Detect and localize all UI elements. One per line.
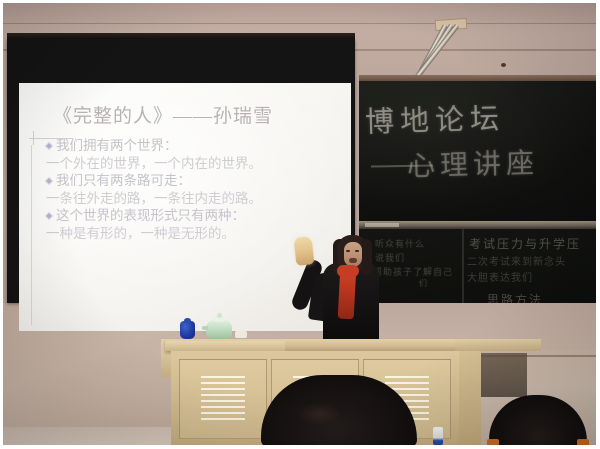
presenter-mouth [349, 258, 357, 263]
blackboard-right-note: 二次考试来到新念头 [467, 253, 566, 268]
ceiling-fixture-dot [501, 63, 506, 67]
blackboard-right-note: 考试压力与升学压 [469, 235, 581, 252]
slide-decor-guide [31, 145, 32, 325]
podium-recess [473, 353, 527, 397]
podium-panel [179, 359, 267, 439]
presenter-face [344, 242, 362, 267]
ceiling-band [3, 3, 596, 25]
photo-frame: 博地论坛 心理讲座 听众有什么 说我们 帮助孩子了解自己 们 考试压力与升学压 … [0, 0, 600, 449]
white-desk-item [235, 331, 247, 338]
presenter-hair [361, 239, 372, 275]
teapot-knob [217, 313, 222, 318]
classroom-photo: 博地论坛 心理讲座 听众有什么 说我们 帮助孩子了解自己 们 考试压力与升学压 … [3, 3, 596, 445]
diamond-bullet-icon [45, 212, 54, 221]
blackboard-headline: 博地论坛 [364, 95, 505, 141]
diamond-bullet-icon [45, 142, 54, 151]
teapot-spout [202, 326, 208, 330]
slide-bullet-line: 这个世界的表现形式只有两种： [45, 207, 341, 225]
slide-sub-line: 一条往外走的路，一条往内走的路。 [45, 190, 341, 208]
slide-line-text: 一条往外走的路，一条往内走的路。 [46, 191, 262, 206]
blackboard-subhead: 心理讲座 [406, 141, 539, 184]
slide-line-text: 我们只有两条路可走： [56, 173, 191, 188]
slide-line-text: 一种是有形的，一种是无形的。 [46, 226, 235, 241]
slide-line-text: 这个世界的表现形式只有两种： [56, 208, 245, 223]
student-collar [487, 439, 499, 445]
student-collar [577, 439, 589, 445]
podium-top-left [165, 341, 285, 351]
slide-line-text: 我们拥有两个世界： [56, 138, 178, 153]
water-bottle [433, 427, 443, 445]
diamond-bullet-icon [45, 177, 54, 186]
chalk-rail [359, 221, 596, 229]
presenter [289, 225, 389, 345]
presenter-eye [346, 250, 350, 252]
presenter-scarf-knot [337, 265, 359, 277]
podium-vent-icon [201, 376, 245, 420]
podium-right-side [457, 351, 481, 445]
podium-right-top [455, 339, 541, 351]
slide-line-text: 一个外在的世界，一个内在的世界。 [46, 156, 262, 171]
blue-cup [180, 321, 195, 339]
slide-bullet-line: 我们只有两条路可走： [45, 172, 341, 190]
slide-bullet-line: 我们拥有两个世界： [45, 137, 341, 155]
blackboard-chalk-underline [371, 164, 433, 167]
blackboard-left-note: 们 [419, 278, 427, 289]
blackboard-right-note: 大胆表达我们 [467, 269, 533, 284]
slide-sub-line: 一个外在的世界，一个内在的世界。 [45, 155, 341, 173]
slide-title: 《完整的人》——孙瑞雪 [53, 101, 341, 128]
presenter-raised-hand [294, 236, 315, 266]
blackboard-upper-panel: 博地论坛 心理讲座 [359, 81, 596, 221]
presenter-eye [355, 250, 359, 252]
slide-decor-rule [29, 138, 73, 139]
wall-seam-line [3, 23, 596, 24]
green-teapot [206, 320, 232, 339]
